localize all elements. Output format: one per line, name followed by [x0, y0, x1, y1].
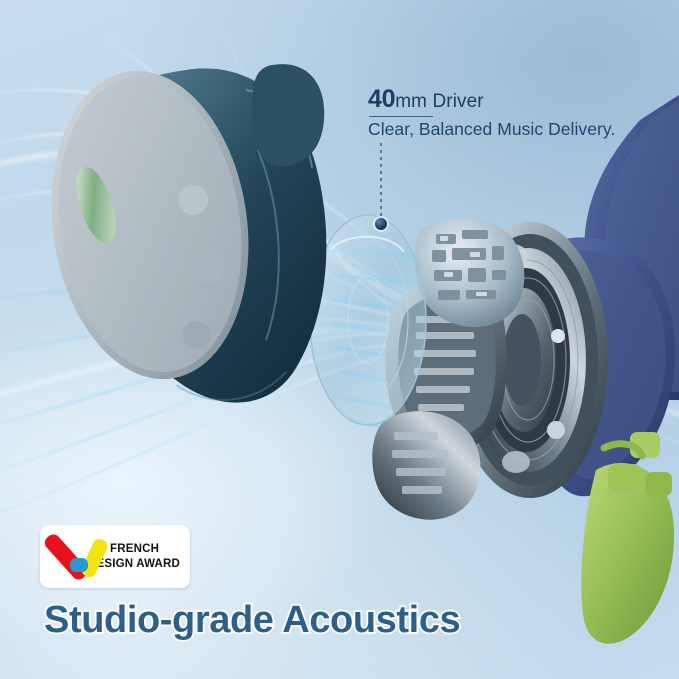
callout-title: 40mm Driver [368, 88, 648, 113]
callout-number: 40 [368, 85, 395, 113]
driver-diaphragm-cone [310, 215, 426, 425]
callout-anchor-dot [375, 218, 387, 230]
product-feature-image: 40mm Driver Clear, Balanced Music Delive… [0, 0, 679, 679]
ear-cup-yoke [252, 64, 324, 166]
callout-unit-label: mm Driver [395, 91, 484, 112]
award-line-1: FRENCH [110, 543, 159, 555]
callout-leader-line [380, 143, 382, 219]
french-design-award-logo [47, 531, 109, 583]
award-badge: FRENCH DESIGN AWARD [40, 525, 190, 588]
driver-callout: 40mm Driver Clear, Balanced Music Delive… [368, 88, 648, 140]
page-headline: Studio-grade Acoustics [44, 599, 460, 642]
callout-subtitle: Clear, Balanced Music Delivery. [368, 119, 648, 140]
logo-blue-bar [70, 558, 88, 572]
callout-rule [369, 116, 433, 117]
award-badge-text: FRENCH DESIGN AWARD [110, 542, 180, 572]
